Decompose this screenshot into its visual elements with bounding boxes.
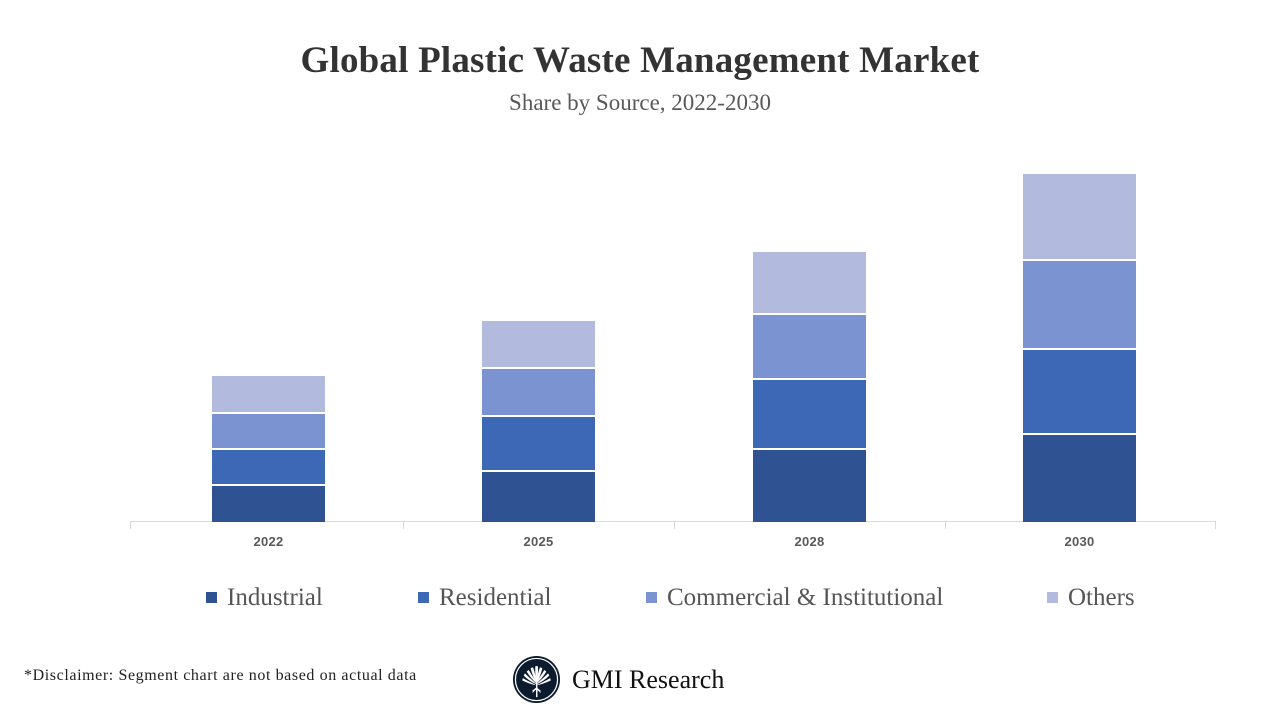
- legend-item[interactable]: Industrial: [206, 585, 323, 610]
- title-block: Global Plastic Waste Management Market S…: [0, 42, 1280, 114]
- x-axis-label: 2022: [212, 534, 325, 549]
- chart-canvas: Global Plastic Waste Management Market S…: [0, 0, 1280, 720]
- bar-segment[interactable]: [753, 450, 866, 522]
- legend-swatch-icon: [1047, 592, 1058, 603]
- bar-segment[interactable]: [212, 414, 325, 450]
- x-axis-label: 2030: [1023, 534, 1136, 549]
- bar-segment[interactable]: [212, 486, 325, 522]
- bar-segment[interactable]: [212, 450, 325, 486]
- legend-swatch-icon: [418, 592, 429, 603]
- brand-name: GMI Research: [572, 667, 724, 693]
- x-axis-tick: [403, 522, 404, 529]
- bar-segment[interactable]: [1023, 174, 1136, 261]
- legend-label: Industrial: [227, 585, 323, 610]
- legend-item[interactable]: Commercial & Institutional: [646, 585, 943, 610]
- legend-item[interactable]: Others: [1047, 585, 1135, 610]
- legend-label: Others: [1068, 585, 1135, 610]
- bar-segment[interactable]: [482, 369, 595, 417]
- bar-segment[interactable]: [482, 472, 595, 522]
- bar-group[interactable]: [753, 151, 866, 522]
- page-subtitle: Share by Source, 2022-2030: [0, 79, 1280, 114]
- bar-stack[interactable]: [212, 376, 325, 522]
- legend-swatch-icon: [206, 592, 217, 603]
- x-axis-label: 2025: [482, 534, 595, 549]
- x-axis-tick: [674, 522, 675, 529]
- bar-segment[interactable]: [212, 376, 325, 414]
- page-title: Global Plastic Waste Management Market: [0, 42, 1280, 79]
- disclaimer-text: *Disclaimer: Segment chart are not based…: [24, 667, 417, 685]
- gmi-palm-logo-icon: [512, 655, 561, 704]
- plot-area: 2022202520282030: [130, 150, 1216, 522]
- x-axis-label: 2028: [753, 534, 866, 549]
- bar-segment[interactable]: [753, 252, 866, 315]
- bar-stack[interactable]: [1023, 174, 1136, 522]
- bar-group[interactable]: [1023, 151, 1136, 522]
- bar-segment[interactable]: [753, 380, 866, 451]
- brand-block: GMI Research: [512, 655, 724, 704]
- legend-label: Commercial & Institutional: [667, 585, 943, 610]
- chart-legend: IndustrialResidentialCommercial & Instit…: [130, 585, 1216, 615]
- x-axis-tick: [945, 522, 946, 529]
- bar-segment[interactable]: [1023, 261, 1136, 350]
- bar-stack[interactable]: [482, 321, 595, 522]
- bar-group[interactable]: [482, 151, 595, 522]
- legend-item[interactable]: Residential: [418, 585, 551, 610]
- x-axis-tick: [130, 522, 131, 529]
- bar-segment[interactable]: [1023, 435, 1136, 522]
- bar-segment[interactable]: [753, 315, 866, 380]
- x-axis-tick: [1215, 522, 1216, 529]
- bar-group[interactable]: [212, 151, 325, 522]
- bar-segment[interactable]: [482, 417, 595, 472]
- legend-swatch-icon: [646, 592, 657, 603]
- bar-segment[interactable]: [1023, 350, 1136, 435]
- bar-stack[interactable]: [753, 252, 866, 522]
- bar-segment[interactable]: [482, 321, 595, 369]
- legend-label: Residential: [439, 585, 551, 610]
